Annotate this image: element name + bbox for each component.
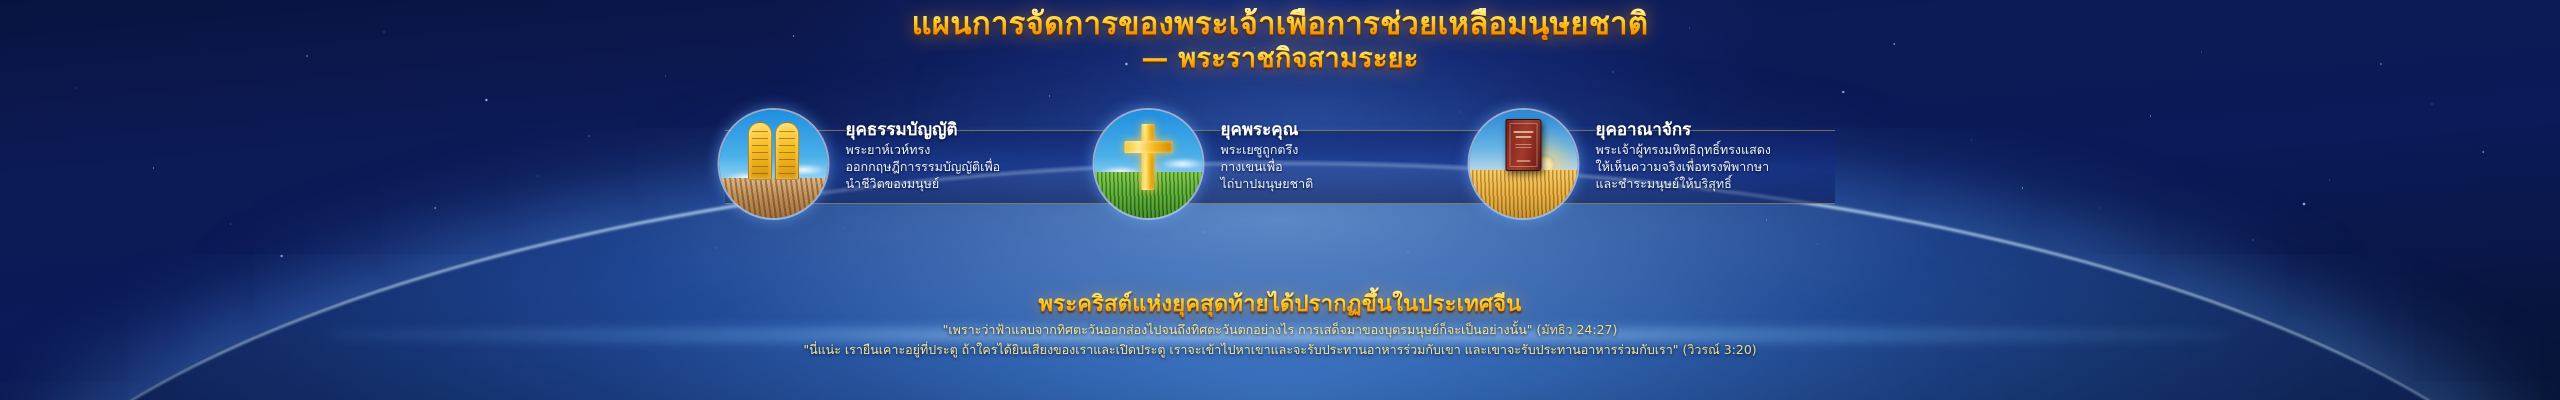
book-title-line-1	[1514, 131, 1534, 133]
quote-1-reference: (มัทธิว 24:27)	[1536, 322, 1617, 337]
stage-3-desc-line-3: และชำระมนุษย์ให้บริสุทธิ์	[1596, 176, 1771, 193]
stage-2-desc-line-1: พระเยซูถูกตรึง	[1221, 142, 1314, 159]
stone-tablets-icon	[748, 122, 799, 180]
cross-vertical-bar	[1142, 124, 1155, 190]
quote-1: "เพราะว่าฟ้าแลบจากทิศตะวันออกส่องไปจนถึง…	[0, 320, 2560, 340]
book-subtitle-block	[1516, 144, 1532, 150]
stage-1-image	[718, 108, 830, 220]
cross-icon	[1123, 124, 1175, 190]
stage-age-of-law[interactable]: ยุคธรรมบัญญัติ พระยาห์เวห์ทรง ออกกฤษฎีกา…	[718, 108, 1093, 220]
stage-3-image	[1468, 108, 1580, 220]
stage-2-title: ยุคพระคุณ	[1221, 120, 1314, 141]
stage-2-description: พระเยซูถูกตรึง กางเขนเพื่อ ไถ่บาปมนุษยชา…	[1221, 142, 1314, 192]
stage-1-description: พระยาห์เวห์ทรง ออกกฤษฎีการรรมบัญญัติเพื่…	[846, 142, 1001, 192]
cross-horizontal-bar	[1125, 141, 1173, 153]
stage-2-image	[1093, 108, 1205, 220]
stage-age-of-kingdom[interactable]: ยุคอาณาจักร พระเจ้าผู้ทรงมหิทธิฤทธิ์ทรงแ…	[1468, 108, 1843, 220]
stage-3-title: ยุคอาณาจักร	[1596, 120, 1771, 141]
quote-2-reference: (วิวรณ์ 3:20)	[1683, 342, 1757, 357]
stage-3-description: พระเจ้าผู้ทรงมหิทธิฤทธิ์ทรงแสดง ให้เห็นค…	[1596, 142, 1771, 192]
tablet-right	[775, 122, 799, 180]
quote-1-text: "เพราะว่าฟ้าแลบจากทิศตะวันออกส่องไปจนถึง…	[943, 322, 1533, 337]
stage-1-desc-line-1: พระยาห์เวห์ทรง	[846, 142, 1001, 159]
stage-1-desc-line-2: ออกกฤษฎีการรรมบัญญัติเพื่อ	[846, 159, 1001, 176]
headline-text: พระคริสต์แห่งยุคสุดท้ายได้ปรากฏขึ้นในประ…	[0, 286, 2560, 321]
stage-2-text: ยุคพระคุณ พระเยซูถูกตรึง กางเขนเพื่อ ไถ่…	[1205, 108, 1314, 193]
title-line-1: แผนการจัดการของพระเจ้าเพื่อการช่วยเหลือม…	[0, 8, 2560, 40]
stage-1-text: ยุคธรรมบัญญัติ พระยาห์เวห์ทรง ออกกฤษฎีกา…	[830, 108, 1001, 193]
golden-wheat-sunset-scene	[1470, 170, 1578, 218]
stage-1-title: ยุคธรรมบัญญัติ	[846, 120, 1001, 141]
gospel-banner: แผนการจัดการของพระเจ้าเพื่อการช่วยเหลือม…	[0, 0, 2560, 400]
stage-age-of-grace[interactable]: ยุคพระคุณ พระเยซูถูกตรึง กางเขนเพื่อ ไถ่…	[1093, 108, 1468, 220]
ploughed-field-scene	[720, 178, 828, 218]
quote-2-text: "นี่แน่ะ เรายืนเคาะอยู่ที่ประตู ถ้าใครได…	[803, 342, 1678, 357]
scripture-quotes: "เพราะว่าฟ้าแลบจากทิศตะวันออกส่องไปจนถึง…	[0, 320, 2560, 361]
tablet-left	[748, 122, 772, 180]
stage-2-desc-line-3: ไถ่บาปมนุษยชาติ	[1221, 176, 1314, 193]
stage-1-desc-line-3: นำชีวิตของมนุษย์	[846, 176, 1001, 193]
banner-title: แผนการจัดการของพระเจ้าเพื่อการช่วยเหลือม…	[0, 8, 2560, 73]
stage-3-text: ยุคอาณาจักร พระเจ้าผู้ทรงมหิทธิฤทธิ์ทรงแ…	[1580, 108, 1771, 193]
stage-3-desc-line-2: ให้เห็นความจริงเพื่อทรงพิพากษา	[1596, 159, 1771, 176]
stage-2-desc-line-2: กางเขนเพื่อ	[1221, 159, 1314, 176]
book-title-line-2	[1516, 136, 1532, 138]
three-stages-row: ยุคธรรมบัญญัติ พระยาห์เวห์ทรง ออกกฤษฎีกา…	[718, 108, 1843, 220]
stage-3-desc-line-1: พระเจ้าผู้ทรงมหิทธิฤทธิ์ทรงแสดง	[1596, 142, 1771, 159]
title-line-2: — พระราชกิจสามระยะ	[0, 45, 2560, 73]
book-icon	[1506, 119, 1542, 171]
book-publisher-line	[1517, 160, 1531, 162]
quote-2: "นี่แน่ะ เรายืนเคาะอยู่ที่ประตู ถ้าใครได…	[0, 340, 2560, 360]
